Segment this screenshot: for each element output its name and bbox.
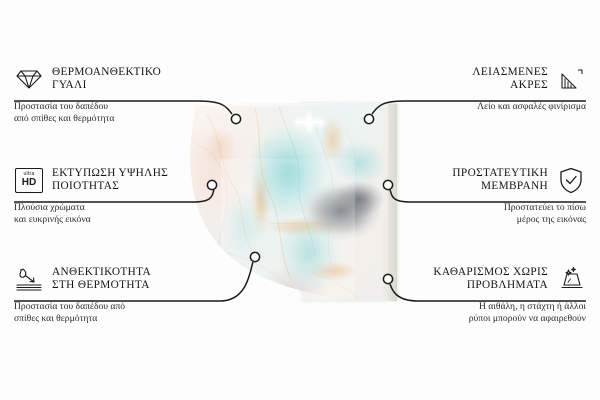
feature-title: ΠΡΟΣΤΑΤΕΥΤΙΚΗ ΜΕΜΒΡΑΝΗ <box>452 167 548 194</box>
ultra-hd-badge-icon: ultra HD <box>14 165 44 195</box>
feature-left-1: ΘΕΡΜΟΑΝΘΕΚΤΙΚΟ ΓΥΑΛΙ Προστασία του δαπέδ… <box>14 62 204 124</box>
hd-badge-large-label: HD <box>22 178 36 188</box>
feature-title: ΑΝΘΕΚΤΙΚΟΤΗΤΑ ΣΤΗ ΘΕΡΜΟΤΗΤΑ <box>52 266 151 293</box>
feature-right-3: ΚΑΘΑΡΙΣΜΟΣ ΧΩΡΙΣ ΠΡΟΒΛΗΜΑΤΑ Η αιθάλη, η … <box>396 262 586 324</box>
product-image <box>183 103 415 311</box>
ink-vein-lines <box>183 103 383 306</box>
polished-edges-icon <box>556 64 586 94</box>
feature-right-1: ΛΕΙΑΣΜΕΝΕΣ ΑΚΡΕΣ Λείο και ασφαλές φινίρι… <box>396 62 586 113</box>
feature-desc: Προστασία του δαπέδου από σπίθες και θερ… <box>14 101 204 124</box>
feature-desc: Προστασία του δαπέδου από σπίθες και θερ… <box>14 301 204 324</box>
sparkle-clean-icon <box>556 264 586 294</box>
shield-check-icon <box>556 165 586 195</box>
feature-title: ΘΕΡΜΟΑΝΘΕΚΤΙΚΟ ΓΥΑΛΙ <box>52 66 161 93</box>
glass-top-edge <box>197 103 383 106</box>
feature-right-2: ΠΡΟΣΤΑΤΕΥΤΙΚΗ ΜΕΜΒΡΑΝΗ Προστατεύει το πί… <box>396 163 586 225</box>
feature-title: ΕΚΤΥΠΩΣΗ ΥΨΗΛΗΣ ΠΟΙΟΤΗΤΑΣ <box>52 167 168 194</box>
infographic-stage: ΘΕΡΜΟΑΝΘΕΚΤΙΚΟ ΓΥΑΛΙ Προστασία του δαπέδ… <box>0 0 600 400</box>
diamond-icon <box>14 64 44 94</box>
feature-desc: Προστατεύει το πίσω μέρος της εικόνας <box>396 202 586 225</box>
glass-panel <box>183 103 383 306</box>
flame-deflect-icon <box>14 264 44 294</box>
feature-title: ΚΑΘΑΡΙΣΜΟΣ ΧΩΡΙΣ ΠΡΟΒΛΗΜΑΤΑ <box>433 266 548 293</box>
feature-desc: Η αιθάλη, η στάχτη ή άλλοι ρύποι μπορούν… <box>396 301 586 324</box>
feature-desc: Πλούσια χρώματα και ευκρινής εικόνα <box>14 202 204 225</box>
feature-title: ΛΕΙΑΣΜΕΝΕΣ ΑΚΡΕΣ <box>472 66 548 93</box>
feature-left-3: ΑΝΘΕΚΤΙΚΟΤΗΤΑ ΣΤΗ ΘΕΡΜΟΤΗΤΑ Προστασία το… <box>14 262 204 324</box>
feature-desc: Λείο και ασφαλές φινίρισμα <box>396 101 586 113</box>
feature-left-2: ultra HD ΕΚΤΥΠΩΣΗ ΥΨΗΛΗΣ ΠΟΙΟΤΗΤΑΣ Πλούσ… <box>14 163 204 225</box>
